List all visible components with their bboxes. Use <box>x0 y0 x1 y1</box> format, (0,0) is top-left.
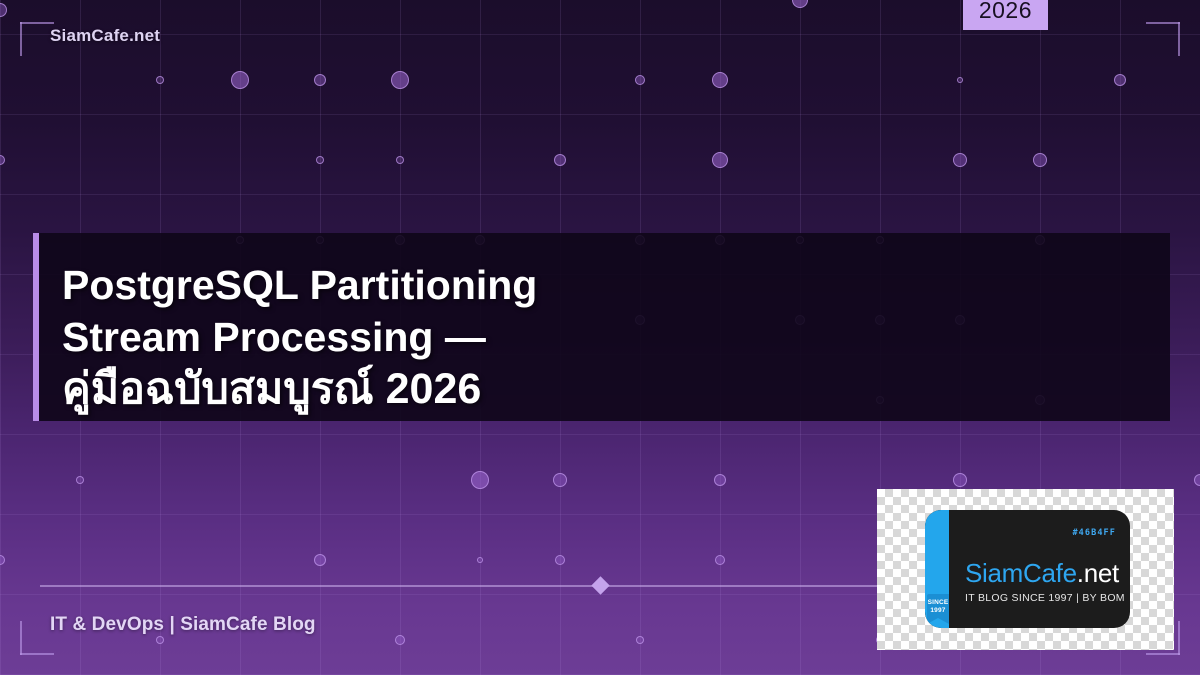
background-node <box>0 155 5 165</box>
background-node <box>316 156 324 164</box>
background-node <box>953 473 967 487</box>
background-node <box>156 636 164 644</box>
diamond-marker-icon <box>591 576 609 594</box>
background-node <box>715 555 725 565</box>
background-node <box>76 476 84 484</box>
page-title-line-1: PostgreSQL Partitioning <box>62 259 1148 311</box>
background-node <box>712 72 728 88</box>
background-node <box>554 154 566 166</box>
year-badge: 2026 <box>963 0 1048 30</box>
background-node <box>396 156 404 164</box>
background-node <box>555 555 565 565</box>
background-node <box>636 636 644 644</box>
background-node <box>792 0 808 8</box>
background-node <box>714 474 726 486</box>
logo-wordmark: SiamCafe.net <box>965 558 1119 589</box>
page-title-line-2: Stream Processing — <box>62 311 1148 363</box>
logo-card-frame: SINCE 1997 #46B4FF SiamCafe.net IT BLOG … <box>877 489 1174 650</box>
logo-wordmark-primary: SiamCafe <box>965 558 1077 588</box>
background-node <box>0 555 5 565</box>
page-title-line-3: คู่มือฉบับสมบูรณ์ 2026 <box>62 363 1148 415</box>
ribbon-line-1: SINCE <box>928 599 949 606</box>
logo-wordmark-suffix: .net <box>1077 558 1119 588</box>
background-node <box>231 71 249 89</box>
logo-card: SINCE 1997 #46B4FF SiamCafe.net IT BLOG … <box>925 510 1130 628</box>
corner-bracket-bottom-left <box>20 621 54 655</box>
corner-bracket-top-left <box>20 22 54 56</box>
background-node <box>156 76 164 84</box>
background-node <box>395 635 405 645</box>
title-body: PostgreSQL Partitioning Stream Processin… <box>39 233 1170 421</box>
background-node <box>0 3 7 17</box>
background-node <box>471 471 489 489</box>
background-node <box>1114 74 1126 86</box>
footer-caption: IT & DevOps | SiamCafe Blog <box>50 614 316 636</box>
background-node <box>314 554 326 566</box>
corner-bracket-top-right <box>1146 22 1180 56</box>
hero-banner: SiamCafe.net 2026 PostgreSQL Partitionin… <box>0 0 1200 675</box>
background-node <box>314 74 326 86</box>
logo-tagline: IT BLOG SINCE 1997 | BY BOM <box>965 592 1125 604</box>
background-node <box>1194 474 1200 486</box>
title-panel: PostgreSQL Partitioning Stream Processin… <box>33 233 1170 421</box>
logo-hex-label: #46B4FF <box>1072 528 1116 538</box>
background-node <box>712 152 728 168</box>
background-node <box>477 557 483 563</box>
background-node <box>957 77 963 83</box>
background-node <box>953 153 967 167</box>
background-node <box>635 75 645 85</box>
ribbon-line-2: 1997 <box>930 607 945 614</box>
brand-name: SiamCafe.net <box>50 26 160 46</box>
background-node <box>391 71 409 89</box>
background-node <box>1033 153 1047 167</box>
background-node <box>553 473 567 487</box>
